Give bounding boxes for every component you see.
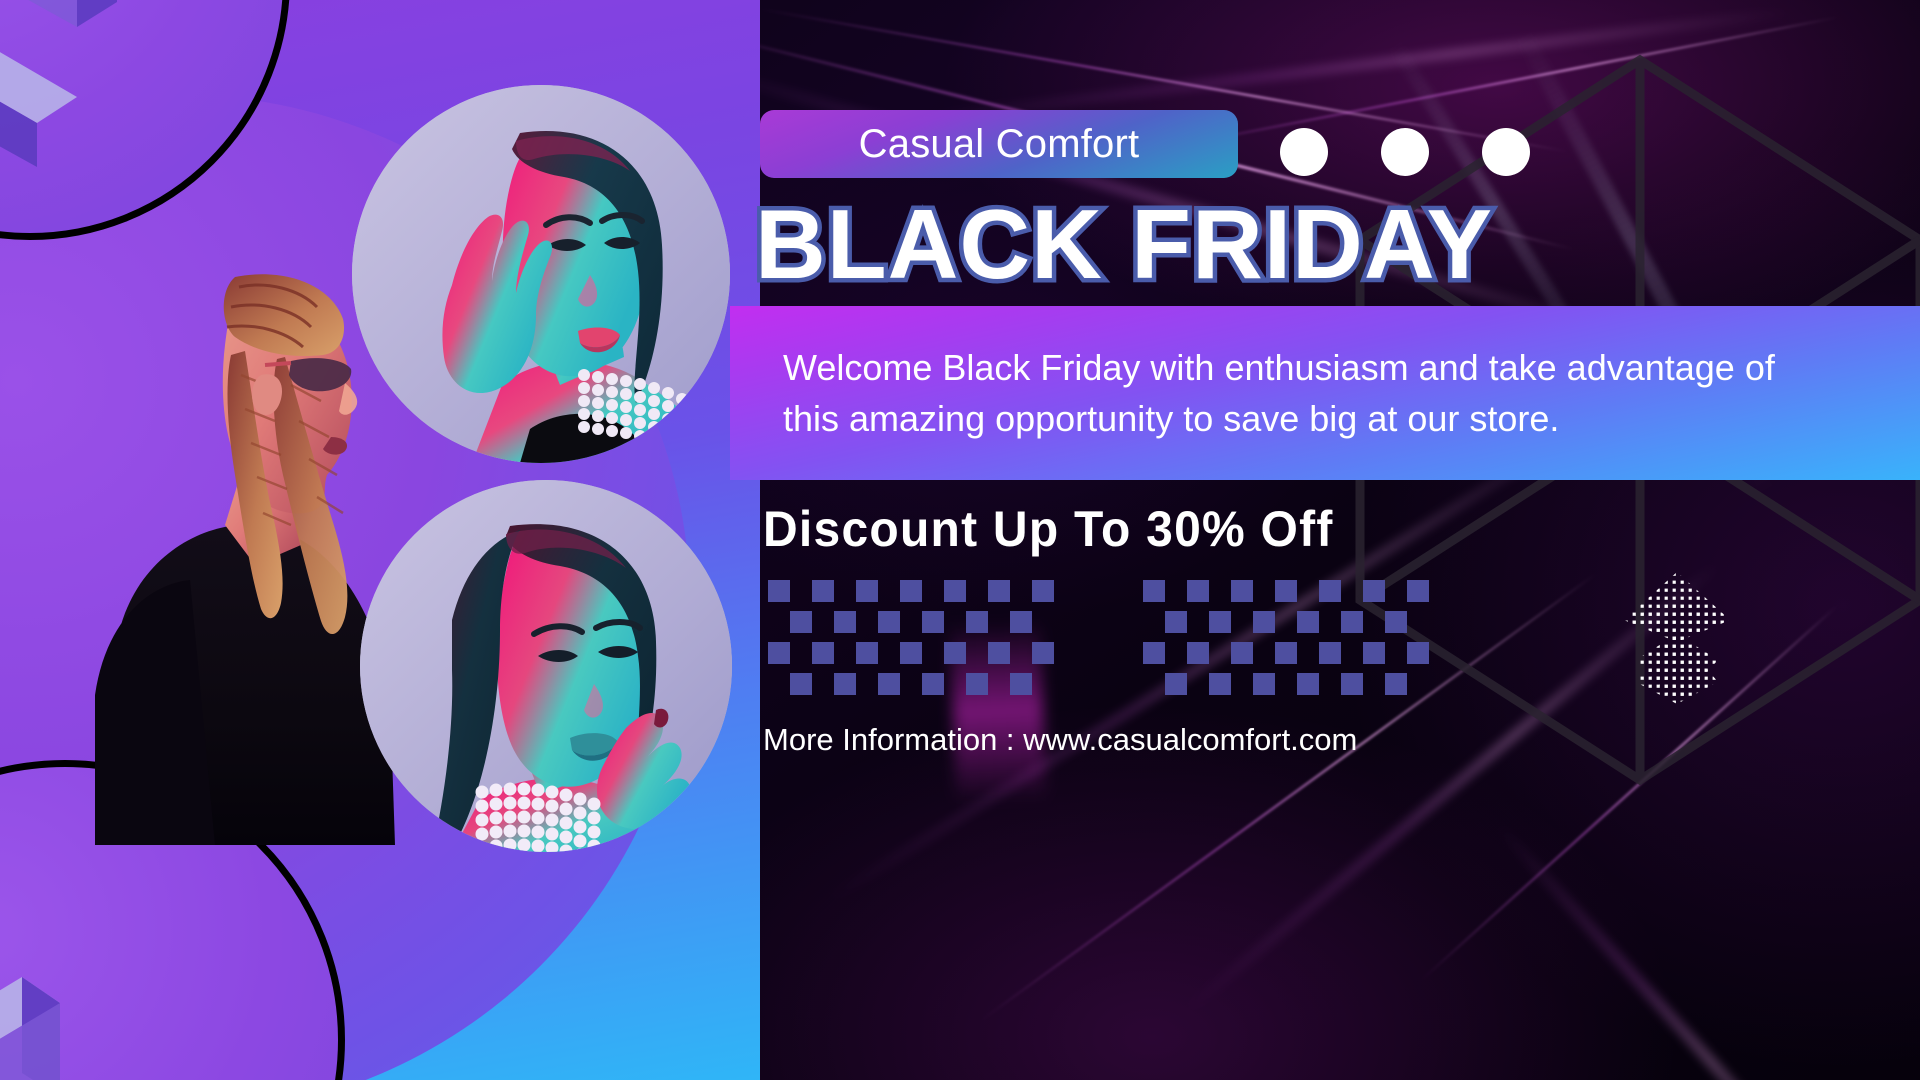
brand-badge-label: Casual Comfort	[859, 122, 1140, 167]
portrait-circle-top	[352, 85, 730, 463]
brand-badge[interactable]: Casual Comfort	[760, 110, 1238, 178]
portrait-circle-bottom	[360, 480, 732, 852]
black-friday-promo-banner: Casual Comfort BLACK FRIDAY Welcome Blac…	[0, 0, 1920, 1080]
page-title: BLACK FRIDAY	[755, 188, 1920, 301]
promo-content: Casual Comfort BLACK FRIDAY Welcome Blac…	[760, 0, 1920, 1080]
decor-dot-2	[1381, 128, 1429, 176]
checkerboard-decor-group	[768, 580, 1453, 695]
model-photo-bottom	[360, 480, 732, 852]
model-photo-top	[352, 85, 730, 463]
checkerboard-pattern-right	[1143, 580, 1453, 695]
dot-decor-group	[1280, 128, 1530, 176]
checkerboard-pattern-left	[768, 580, 1078, 695]
chevron-motif-icon	[0, 0, 297, 247]
discount-headline: Discount Up To 30% Off	[763, 500, 1334, 558]
dotted-diamond-decor	[1622, 570, 1732, 705]
description-text: Welcome Black Friday with enthusiasm and…	[783, 342, 1783, 444]
more-information-text[interactable]: More Information : www.casualcomfort.com	[763, 722, 1357, 758]
left-collage-art	[0, 0, 760, 1080]
decor-circle-top-left	[0, 0, 290, 240]
description-panel: Welcome Black Friday with enthusiasm and…	[730, 306, 1920, 480]
decor-dot-1	[1280, 128, 1328, 176]
decor-dot-3	[1482, 128, 1530, 176]
